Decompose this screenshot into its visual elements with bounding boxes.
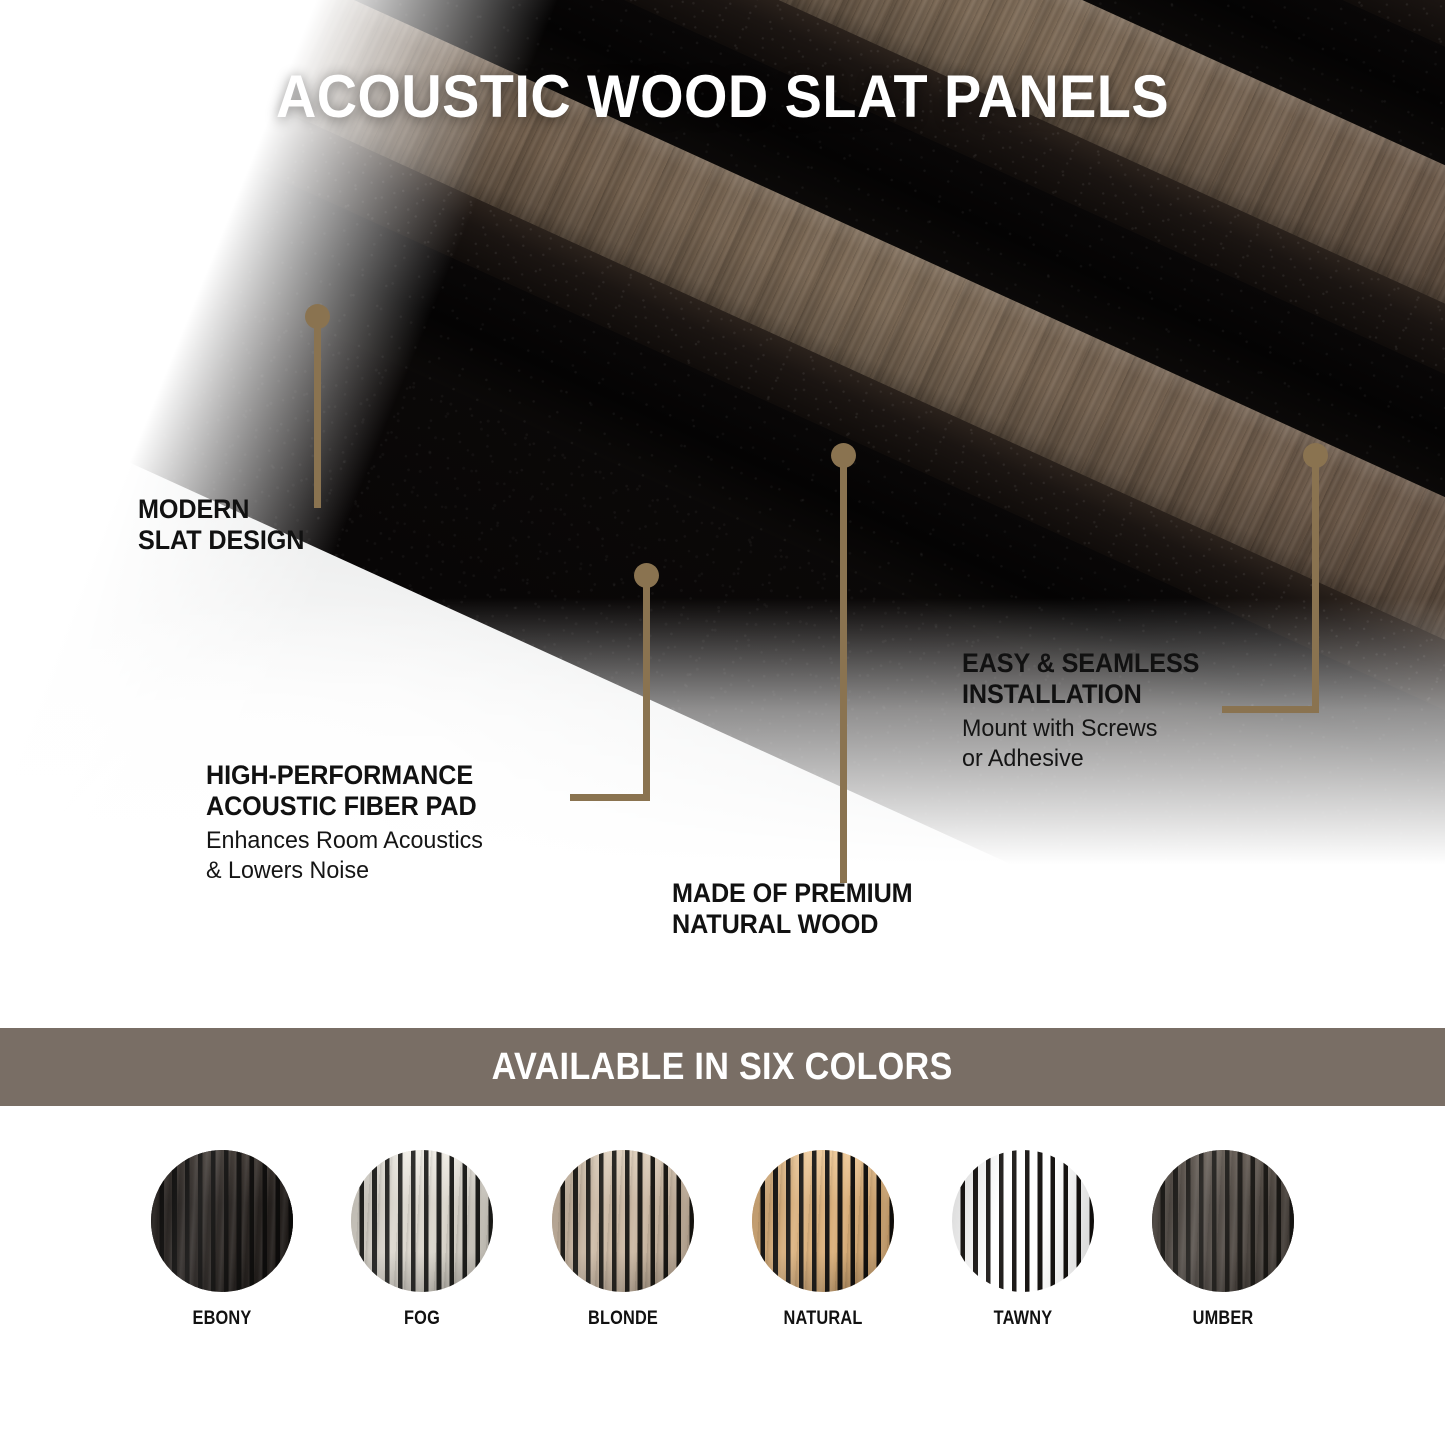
callout-modern-slat-design: MODERN SLAT DESIGN: [138, 494, 468, 555]
swatch-label: UMBER: [1162, 1308, 1284, 1330]
color-swatch-blonde[interactable]: BLONDE: [552, 1150, 694, 1330]
swatch-sheen: [552, 1150, 694, 1292]
color-swatch-fog[interactable]: FOG: [351, 1150, 493, 1330]
callout-title: MADE OF PREMIUM NATURAL WOOD: [672, 878, 995, 939]
color-swatch-umber[interactable]: UMBER: [1152, 1150, 1294, 1330]
callout-title: EASY & SEAMLESS INSTALLATION: [962, 648, 1276, 709]
callout-title: MODERN SLAT DESIGN: [138, 494, 452, 555]
callout-easy-installation: EASY & SEAMLESS INSTALLATION Mount with …: [962, 648, 1292, 774]
available-colors-label: AVAILABLE IN SIX COLORS: [492, 1046, 953, 1089]
swatch-disc: [151, 1150, 293, 1292]
callout-acoustic-fiber-pad: HIGH-PERFORMANCE ACOUSTIC FIBER PAD Enha…: [206, 760, 596, 886]
color-swatch-ebony[interactable]: EBONY: [151, 1150, 293, 1330]
callout-premium-natural-wood: MADE OF PREMIUM NATURAL WOOD: [672, 878, 1012, 939]
swatch-disc: [351, 1150, 493, 1292]
color-swatch-tawny[interactable]: TAWNY: [952, 1150, 1094, 1330]
swatch-sheen: [952, 1150, 1094, 1292]
swatch-disc: [952, 1150, 1094, 1292]
color-swatch-row: EBONY FOG BLONDE NATURAL TAWNY: [0, 1106, 1445, 1445]
page-title: ACOUSTIC WOOD SLAT PANELS: [51, 62, 1395, 131]
swatch-label: NATURAL: [762, 1308, 884, 1330]
callout-title: HIGH-PERFORMANCE ACOUSTIC FIBER PAD: [206, 760, 577, 821]
swatch-sheen: [151, 1150, 293, 1292]
color-swatch-natural[interactable]: NATURAL: [752, 1150, 894, 1330]
swatch-sheen: [1152, 1150, 1294, 1292]
swatch-label: FOG: [361, 1308, 483, 1330]
swatch-disc: [1152, 1150, 1294, 1292]
swatch-label: TAWNY: [962, 1308, 1084, 1330]
available-colors-band: AVAILABLE IN SIX COLORS: [0, 1028, 1445, 1106]
callout-subtitle: Enhances Room Acoustics & Lowers Noise: [206, 826, 584, 886]
callout-subtitle: Mount with Screws or Adhesive: [962, 714, 1282, 774]
swatch-label: BLONDE: [562, 1308, 684, 1330]
swatch-label: EBONY: [161, 1308, 283, 1330]
swatch-disc: [552, 1150, 694, 1292]
swatch-disc: [752, 1150, 894, 1292]
swatch-sheen: [752, 1150, 894, 1292]
swatch-sheen: [351, 1150, 493, 1292]
